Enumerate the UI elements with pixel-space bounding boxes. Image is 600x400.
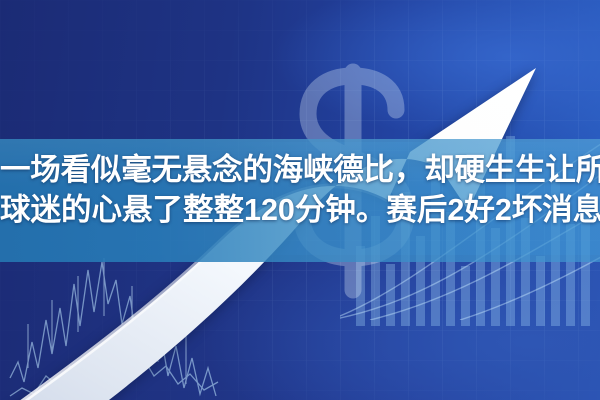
caption-text: 一场看似毫无悬念的海峡德比，却硬生生让所有中国 球迷的心悬了整整120分钟。赛后… [0,150,600,230]
caption-line-1: 一场看似毫无悬念的海峡德比，却硬生生让所有中国 [0,150,600,190]
caption-line-2: 球迷的心悬了整整120分钟。赛后2好2坏消息 [0,190,600,230]
banner-image: 一场看似毫无悬念的海峡德比，却硬生生让所有中国 球迷的心悬了整整120分钟。赛后… [0,0,600,400]
